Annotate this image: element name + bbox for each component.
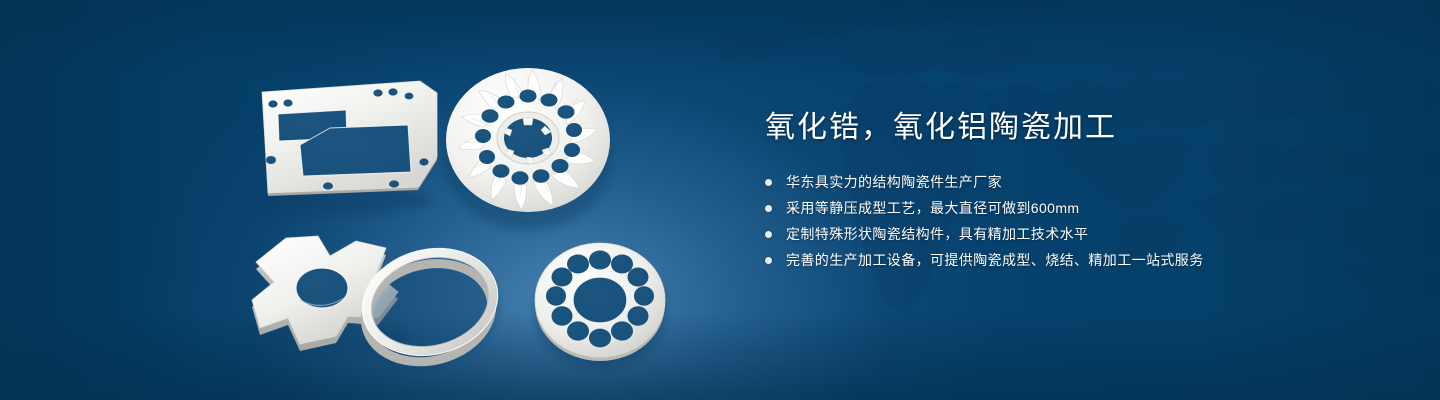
ceramic-perforated-disc	[534, 243, 666, 370]
list-item: 华东具实力的结构陶瓷件生产厂家	[765, 170, 1385, 194]
list-item-label: 采用等静压成型工艺，最大直径可做到600mm	[786, 196, 1079, 220]
list-item: 定制特殊形状陶瓷结构件，具有精加工技术水平	[765, 222, 1385, 246]
banner-copy: 氧化锆，氧化铝陶瓷加工 华东具实力的结构陶瓷件生产厂家 采用等静压成型工艺，最大…	[765, 108, 1385, 274]
product-photo-group	[0, 0, 740, 400]
feature-list: 华东具实力的结构陶瓷件生产厂家 采用等静压成型工艺，最大直径可做到600mm 定…	[765, 170, 1385, 272]
list-item: 完善的生产加工设备，可提供陶瓷成型、烧结、精加工一站式服务	[765, 248, 1385, 272]
bullet-dot-icon	[765, 257, 772, 264]
bullet-dot-icon	[765, 231, 772, 238]
list-item-label: 定制特殊形状陶瓷结构件，具有精加工技术水平	[786, 222, 1088, 246]
hero-banner: 氧化锆，氧化铝陶瓷加工 华东具实力的结构陶瓷件生产厂家 采用等静压成型工艺，最大…	[0, 0, 1440, 400]
list-item-label: 华东具实力的结构陶瓷件生产厂家	[786, 170, 1002, 194]
list-item-label: 完善的生产加工设备，可提供陶瓷成型、烧结、精加工一站式服务	[786, 248, 1204, 272]
bullet-dot-icon	[765, 179, 772, 186]
list-item: 采用等静压成型工艺，最大直径可做到600mm	[765, 196, 1385, 220]
page-title: 氧化锆，氧化铝陶瓷加工	[765, 108, 1385, 148]
ceramic-machined-plate	[248, 81, 437, 214]
ceramic-impeller-disc	[444, 68, 612, 230]
bullet-dot-icon	[765, 205, 772, 212]
